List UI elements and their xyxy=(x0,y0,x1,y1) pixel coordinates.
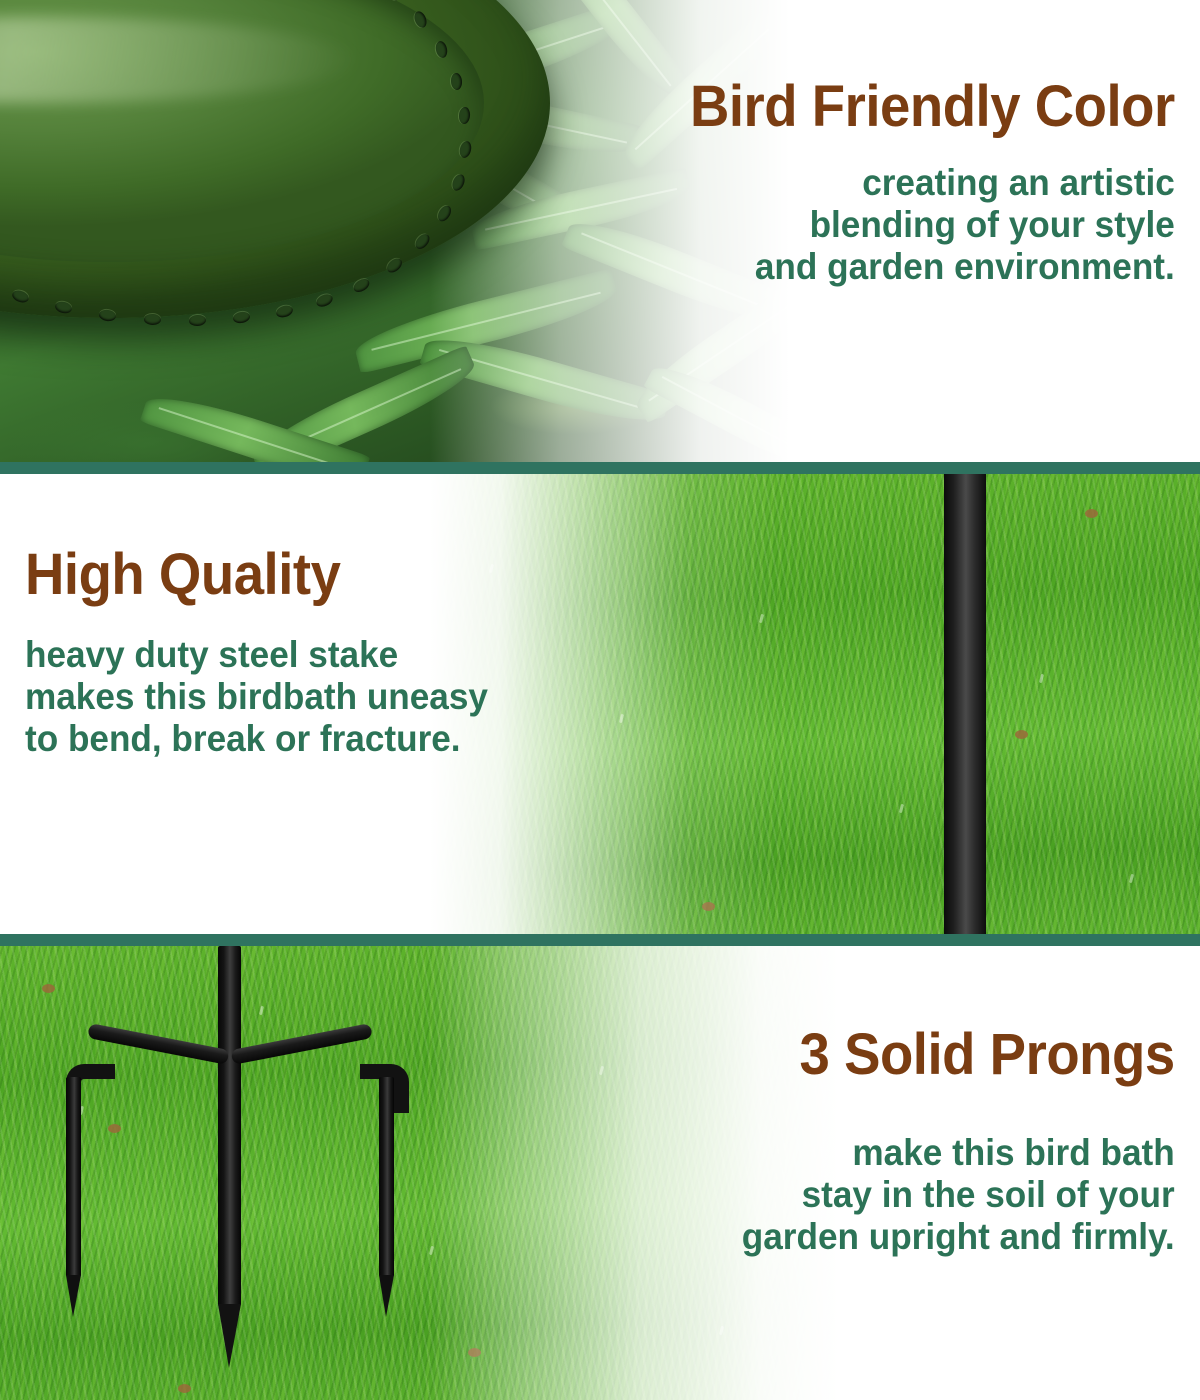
stake-center-tip xyxy=(218,1304,241,1368)
panel-three-body-line: make this bird bath xyxy=(742,1132,1175,1174)
panel-three-body-line: garden upright and firmly. xyxy=(742,1216,1175,1258)
steel-stake-pole xyxy=(944,474,986,934)
prong-tip-left xyxy=(66,1275,81,1317)
divider-two xyxy=(0,934,1200,946)
panel-two-body-line: makes this birdbath uneasy xyxy=(25,676,488,718)
prong-leg-left xyxy=(66,1077,81,1277)
grass-background xyxy=(430,474,1200,934)
panel-three-text: 3 Solid Prongs make this bird bath stay … xyxy=(719,1026,1175,1258)
panel-two-body-line: heavy duty steel stake xyxy=(25,634,488,676)
prong-arm-left xyxy=(87,1023,229,1065)
panel-three-body: make this bird bath stay in the soil of … xyxy=(742,1132,1175,1258)
panel-one-body-line: and garden environment. xyxy=(685,246,1175,288)
panel-two-body-line: to bend, break or fracture. xyxy=(25,718,488,760)
three-prong-ground-stake xyxy=(0,946,520,1400)
stake-center-shaft xyxy=(218,946,241,1306)
panel-one-body: creating an artistic blending of your st… xyxy=(685,162,1175,288)
panel-three-heading: 3 Solid Prongs xyxy=(747,1026,1175,1084)
panel-two-body: heavy duty steel stake makes this birdba… xyxy=(25,634,488,760)
panel-three-body-line: stay in the soil of your xyxy=(742,1174,1175,1216)
panel-bird-friendly-color: Bird Friendly Color creating an artistic… xyxy=(0,0,1200,462)
panel-two-text: High Quality heavy duty steel stake make… xyxy=(25,546,512,760)
panel-three-solid-prongs: 3 Solid Prongs make this bird bath stay … xyxy=(0,946,1200,1400)
panel-one-heading: Bird Friendly Color xyxy=(690,78,1175,136)
prong-leg-right xyxy=(379,1077,394,1277)
panel-high-quality: High Quality heavy duty steel stake make… xyxy=(0,474,1200,934)
panel-two-heading: High Quality xyxy=(25,546,483,604)
panel-one-body-line: creating an artistic xyxy=(685,162,1175,204)
product-feature-infographic: Bird Friendly Color creating an artistic… xyxy=(0,0,1200,1400)
prong-tip-right xyxy=(379,1275,394,1317)
prong-arm-right xyxy=(231,1023,373,1065)
panel-one-text: Bird Friendly Color creating an artistic… xyxy=(659,78,1175,288)
divider-one xyxy=(0,462,1200,474)
panel-one-body-line: blending of your style xyxy=(685,204,1175,246)
